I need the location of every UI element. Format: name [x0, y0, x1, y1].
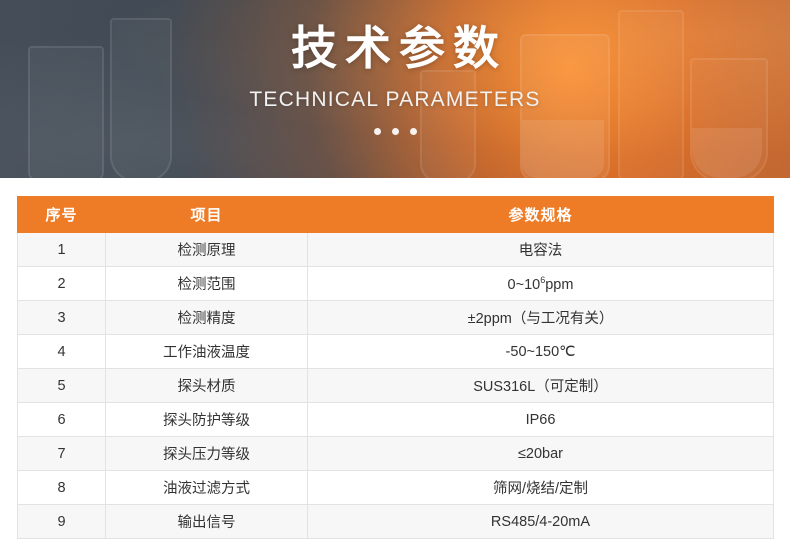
cell-item: 工作油液温度 — [106, 335, 308, 369]
table-body: 1检测原理电容法2检测范围0~106ppm3检测精度±2ppm（与工况有关）4工… — [18, 233, 774, 539]
dot-icon — [392, 128, 399, 135]
parameters-table: 序号 项目 参数规格 1检测原理电容法2检测范围0~106ppm3检测精度±2p… — [17, 196, 774, 539]
table-header: 序号 项目 参数规格 — [18, 197, 774, 233]
decorative-dots — [374, 128, 417, 135]
table-row: 6探头防护等级IP66 — [18, 403, 774, 437]
table-row: 4工作油液温度-50~150℃ — [18, 335, 774, 369]
table-row: 1检测原理电容法 — [18, 233, 774, 267]
cell-item: 检测范围 — [106, 267, 308, 301]
table-header-row: 序号 项目 参数规格 — [18, 197, 774, 233]
table-row: 7探头压力等级≤20bar — [18, 437, 774, 471]
cell-spec: IP66 — [308, 403, 774, 437]
cell-spec: ≤20bar — [308, 437, 774, 471]
cell-spec: 电容法 — [308, 233, 774, 267]
cell-spec: -50~150℃ — [308, 335, 774, 369]
column-header-item: 项目 — [106, 197, 308, 233]
cell-item: 油液过滤方式 — [106, 471, 308, 505]
cell-no: 1 — [18, 233, 106, 267]
cell-no: 7 — [18, 437, 106, 471]
cell-spec: RS485/4-20mA — [308, 505, 774, 539]
cell-item: 探头材质 — [106, 369, 308, 403]
cell-item: 检测原理 — [106, 233, 308, 267]
cell-spec: 0~106ppm — [308, 267, 774, 301]
page-title: 技术参数 — [283, 20, 507, 78]
table-row: 9输出信号RS485/4-20mA — [18, 505, 774, 539]
cell-no: 6 — [18, 403, 106, 437]
parameters-section: 序号 项目 参数规格 1检测原理电容法2检测范围0~106ppm3检测精度±2p… — [0, 178, 790, 539]
dot-icon — [410, 128, 417, 135]
cell-spec: 筛网/烧结/定制 — [308, 471, 774, 505]
superscript: 6 — [540, 275, 545, 285]
table-row: 5探头材质SUS316L（可定制） — [18, 369, 774, 403]
cell-spec: ±2ppm（与工况有关） — [308, 301, 774, 335]
table-row: 2检测范围0~106ppm — [18, 267, 774, 301]
cell-item: 探头防护等级 — [106, 403, 308, 437]
dot-icon — [374, 128, 381, 135]
page-subtitle: TECHNICAL PARAMETERS — [249, 88, 540, 112]
table-row: 8油液过滤方式筛网/烧结/定制 — [18, 471, 774, 505]
page-root: 技术参数 TECHNICAL PARAMETERS 序号 项目 参数规格 — [0, 0, 790, 502]
cell-item: 输出信号 — [106, 505, 308, 539]
cell-no: 5 — [18, 369, 106, 403]
cell-no: 8 — [18, 471, 106, 505]
cell-item: 检测精度 — [106, 301, 308, 335]
cell-no: 2 — [18, 267, 106, 301]
cell-no: 9 — [18, 505, 106, 539]
column-header-spec: 参数规格 — [308, 197, 774, 233]
table-row: 3检测精度±2ppm（与工况有关） — [18, 301, 774, 335]
cell-no: 3 — [18, 301, 106, 335]
cell-spec: SUS316L（可定制） — [308, 369, 774, 403]
column-header-no: 序号 — [18, 197, 106, 233]
cell-item: 探头压力等级 — [106, 437, 308, 471]
page-banner: 技术参数 TECHNICAL PARAMETERS — [0, 0, 790, 178]
cell-no: 4 — [18, 335, 106, 369]
